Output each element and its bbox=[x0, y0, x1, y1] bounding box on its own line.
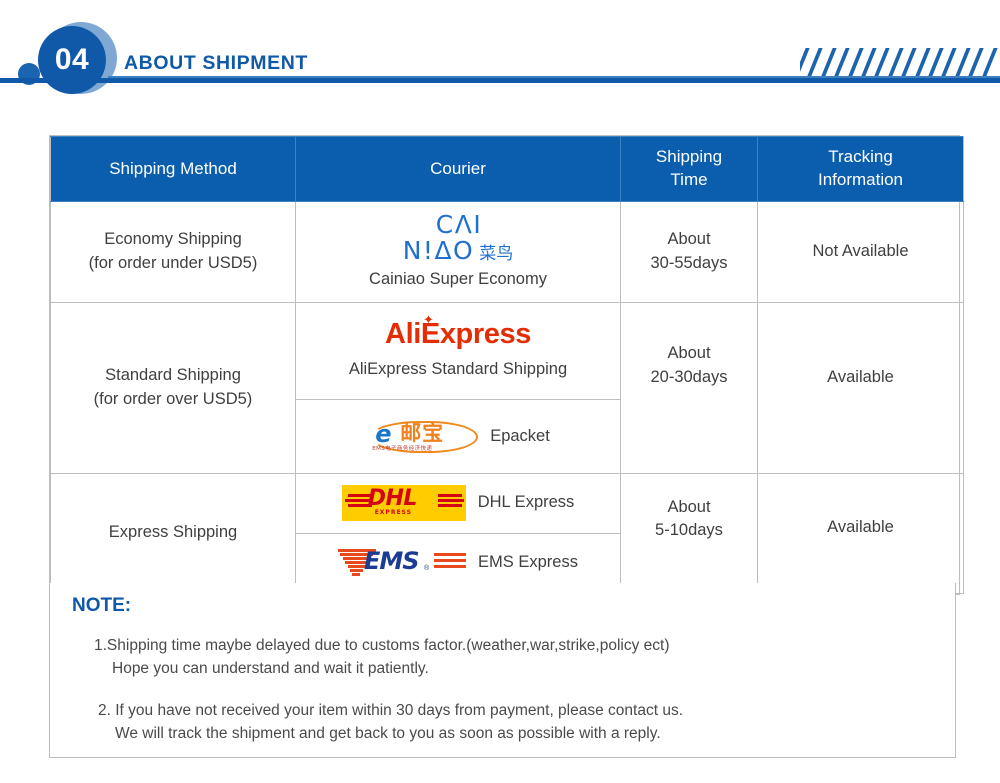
note-item-2-line-1: 2. If you have not received your item wi… bbox=[98, 699, 683, 723]
cainiao-logo-line1: CΛI bbox=[296, 212, 620, 238]
column-header-courier: Courier bbox=[296, 137, 621, 202]
cainiao-logo-cn: 菜鸟 bbox=[474, 244, 513, 264]
aliexpress-logo: ✦ AliExpress bbox=[385, 320, 531, 349]
aliexpress-logo-text: AliExpress bbox=[385, 318, 531, 350]
cell-tracking-standard: Available bbox=[758, 302, 964, 473]
time-line2: 20-30days bbox=[621, 366, 757, 390]
cell-method-express: Express Shipping bbox=[51, 473, 296, 593]
diagonal-stripes-decoration bbox=[800, 48, 1000, 76]
header-rule-thick bbox=[0, 78, 1000, 83]
cell-courier-dhl: DHL EXPRESS DHL Express bbox=[296, 473, 621, 533]
column-header-shipping-time-line1: Shipping bbox=[656, 147, 722, 166]
cainiao-logo-line2: N!ΔO菜鸟 bbox=[296, 238, 620, 264]
courier-name-aliexpress: AliExpress Standard Shipping bbox=[296, 358, 620, 382]
epacket-logo: e 邮宝 EMS电子商务经济快递 bbox=[366, 419, 478, 455]
cainiao-logo: CΛI N!ΔO菜鸟 bbox=[296, 212, 620, 263]
method-line1: Standard Shipping bbox=[51, 364, 295, 388]
courier-entry-epacket: e 邮宝 EMS电子商务经济快递 Epacket bbox=[296, 419, 620, 455]
table-row: Express Shipping DHL EXPRESS DHL Express bbox=[51, 473, 964, 533]
epacket-logo-tagline: EMS电子商务经济快递 bbox=[372, 446, 432, 454]
cell-tracking-express: Available bbox=[758, 473, 964, 593]
section-number-badge: 04 bbox=[38, 26, 106, 94]
dhl-logo-text: DHL bbox=[368, 488, 417, 510]
courier-entry-ems: EMS ® EMS Express bbox=[296, 546, 620, 580]
time-line1: About bbox=[621, 342, 757, 366]
note-item-2-line-2: We will track the shipment and get back … bbox=[115, 722, 661, 746]
table-row: Standard Shipping (for order over USD5) … bbox=[51, 302, 964, 399]
courier-name-ems: EMS Express bbox=[478, 551, 578, 575]
epacket-logo-cn: 邮宝 bbox=[400, 423, 444, 444]
cell-courier-aliexpress: ✦ AliExpress AliExpress Standard Shippin… bbox=[296, 302, 621, 399]
method-line1: Economy Shipping bbox=[51, 228, 295, 252]
cell-method-economy: Economy Shipping (for order under USD5) bbox=[51, 202, 296, 303]
note-item-1-line-2: Hope you can understand and wait it pati… bbox=[112, 657, 429, 681]
column-header-tracking-info: Tracking Information bbox=[758, 137, 964, 202]
dhl-logo: DHL EXPRESS bbox=[342, 485, 466, 521]
column-header-shipping-time-line2: Time bbox=[670, 170, 707, 189]
method-line2: (for order over USD5) bbox=[51, 388, 295, 412]
note-item-1-line-1: 1.Shipping time maybe delayed due to cus… bbox=[94, 634, 670, 658]
method-line1: Express Shipping bbox=[51, 521, 295, 545]
time-line1: About bbox=[621, 496, 757, 520]
method-line2: (for order under USD5) bbox=[51, 252, 295, 276]
column-header-tracking-info-line1: Tracking bbox=[828, 147, 893, 166]
cell-courier-epacket: e 邮宝 EMS电子商务经济快递 Epacket bbox=[296, 400, 621, 474]
dhl-logo-sub: EXPRESS bbox=[375, 509, 412, 518]
table-header-row: Shipping Method Courier Shipping Time Tr… bbox=[51, 137, 964, 202]
courier-entry-aliexpress: ✦ AliExpress AliExpress Standard Shippin… bbox=[296, 310, 620, 392]
courier-name-cainiao: Cainiao Super Economy bbox=[296, 268, 620, 292]
ems-registered-mark: ® bbox=[424, 564, 429, 574]
courier-name-epacket: Epacket bbox=[490, 425, 550, 449]
cell-time-standard: About 20-30days bbox=[621, 302, 758, 473]
page-header: 04 ABOUT SHIPMENT bbox=[0, 0, 1000, 110]
time-line2: 30-55days bbox=[621, 252, 757, 276]
page-title: ABOUT SHIPMENT bbox=[124, 52, 308, 75]
section-number: 04 bbox=[55, 43, 89, 77]
cell-courier-economy: CΛI N!ΔO菜鸟 Cainiao Super Economy bbox=[296, 202, 621, 303]
courier-entry-dhl: DHL EXPRESS DHL Express bbox=[296, 485, 620, 521]
cell-time-economy: About 30-55days bbox=[621, 202, 758, 303]
time-line2: 5-10days bbox=[621, 519, 757, 543]
column-header-shipping-method: Shipping Method bbox=[51, 137, 296, 202]
sparkle-icon: ✦ bbox=[423, 313, 434, 326]
note-box: NOTE: 1.Shipping time maybe delayed due … bbox=[49, 583, 956, 758]
column-header-shipping-time: Shipping Time bbox=[621, 137, 758, 202]
table-row: Economy Shipping (for order under USD5) … bbox=[51, 202, 964, 303]
cell-method-standard: Standard Shipping (for order over USD5) bbox=[51, 302, 296, 473]
shipping-table-wrapper: Shipping Method Courier Shipping Time Tr… bbox=[49, 135, 960, 595]
cell-tracking-economy: Not Available bbox=[758, 202, 964, 303]
ems-logo-text: EMS bbox=[364, 549, 419, 573]
column-header-tracking-info-line2: Information bbox=[818, 170, 903, 189]
courier-entry-cainiao: CΛI N!ΔO菜鸟 Cainiao Super Economy bbox=[296, 202, 620, 302]
note-title: NOTE: bbox=[72, 595, 131, 617]
time-line1: About bbox=[621, 228, 757, 252]
shipping-table: Shipping Method Courier Shipping Time Tr… bbox=[50, 136, 964, 594]
ems-logo: EMS ® bbox=[338, 546, 466, 580]
epacket-logo-e: e bbox=[375, 422, 391, 446]
courier-name-dhl: DHL Express bbox=[478, 491, 575, 515]
cell-time-express: About 5-10days bbox=[621, 473, 758, 593]
